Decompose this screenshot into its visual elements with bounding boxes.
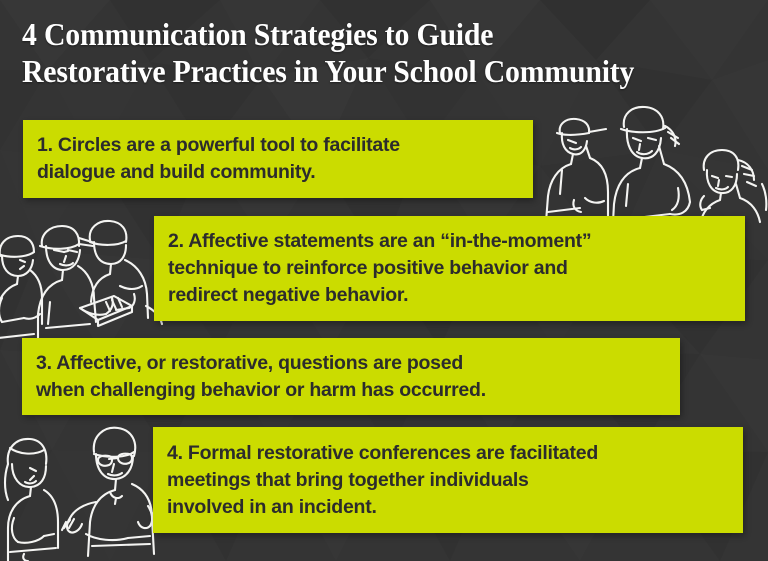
strategy-text-4: 4. Formal restorative conferences are fa… bbox=[167, 440, 598, 521]
strategy-callout-4: 4. Formal restorative conferences are fa… bbox=[153, 427, 743, 533]
illustration-bottom-left bbox=[0, 418, 175, 561]
illustration-middle-left bbox=[0, 198, 174, 343]
page-title-line-1: 4 Communication Strategies to Guide bbox=[22, 16, 701, 53]
page-title: 4 Communication Strategies to Guide Rest… bbox=[22, 16, 701, 90]
strategy-callout-3: 3. Affective, or restorative, questions … bbox=[22, 338, 680, 415]
strategy-text-1: 1. Circles are a powerful tool to facili… bbox=[37, 132, 400, 186]
infographic-canvas: 4 Communication Strategies to Guide Rest… bbox=[0, 0, 768, 561]
page-title-line-2: Restorative Practices in Your School Com… bbox=[22, 53, 701, 90]
strategy-text-2: 2. Affective statements are an “in-the-m… bbox=[168, 228, 591, 309]
strategy-callout-1: 1. Circles are a powerful tool to facili… bbox=[23, 120, 533, 198]
strategy-text-3: 3. Affective, or restorative, questions … bbox=[36, 350, 486, 404]
illustration-top-right bbox=[528, 100, 768, 225]
strategy-callout-2: 2. Affective statements are an “in-the-m… bbox=[154, 216, 745, 321]
